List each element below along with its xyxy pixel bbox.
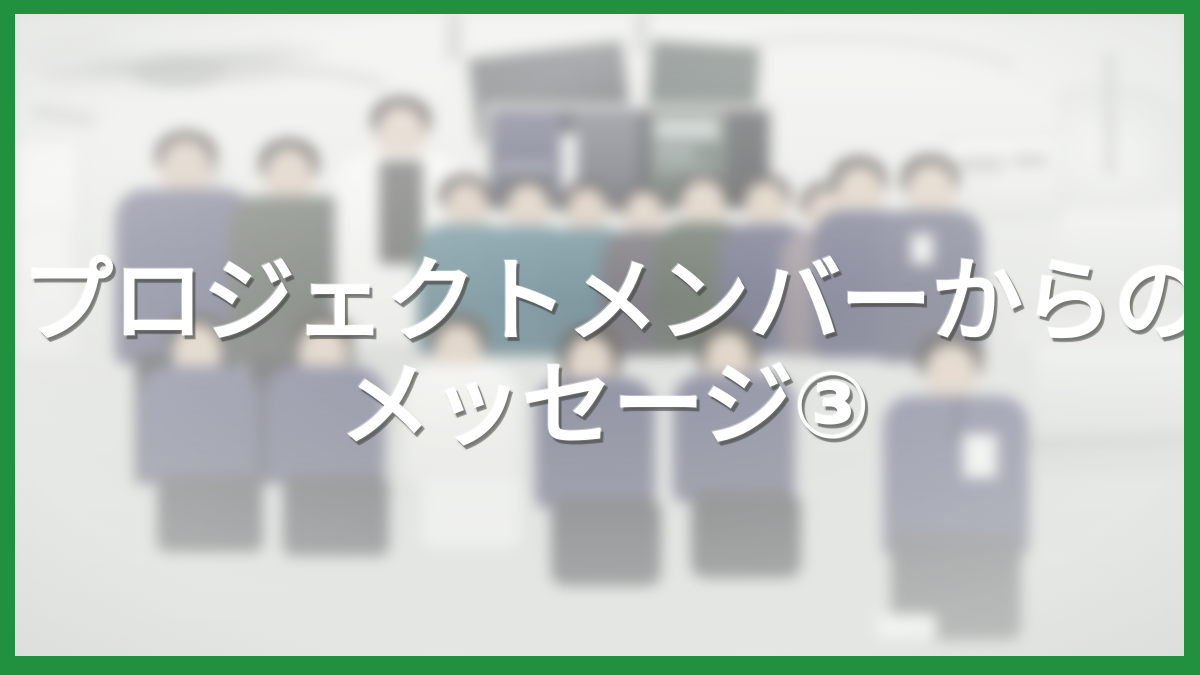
banner-card: プロジェクトメンバーからの メッセージ③	[0, 0, 1200, 675]
photo-overlay-vignette	[15, 14, 1184, 656]
hero-photo: プロジェクトメンバーからの メッセージ③	[15, 14, 1184, 656]
